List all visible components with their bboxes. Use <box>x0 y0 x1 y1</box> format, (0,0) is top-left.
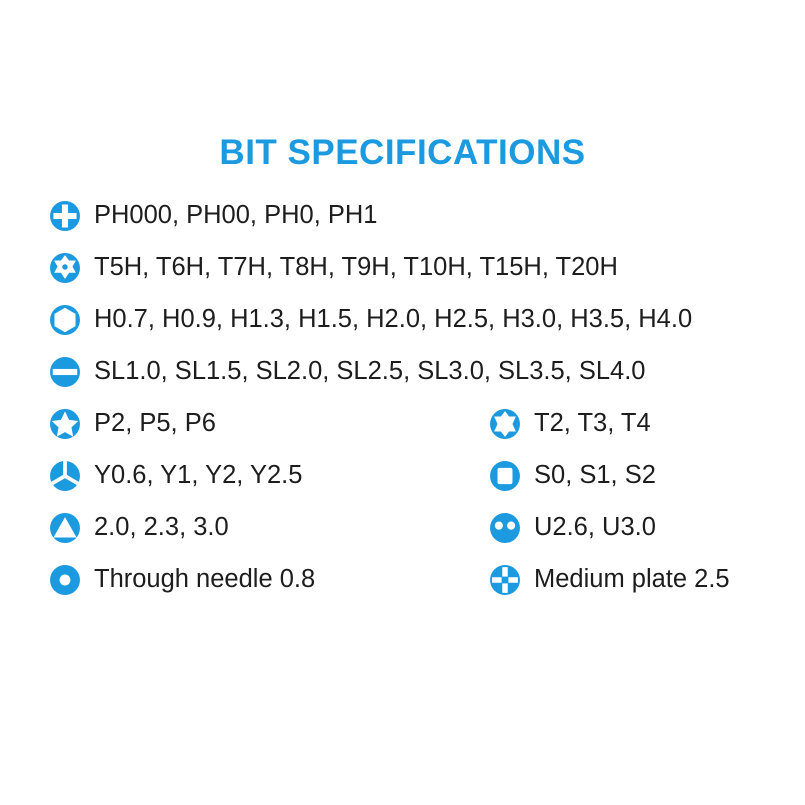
spec-row: T5H, T6H, T7H, T8H, T9H, T10H, T15H, T20… <box>48 242 768 294</box>
spec-row: P2, P5, P6 T2, T3, T4 <box>48 398 768 450</box>
spec-label: 2.0, 2.3, 3.0 <box>94 515 229 541</box>
spec-label: Medium plate 2.5 <box>534 567 730 593</box>
spec-label: SL1.0, SL1.5, SL2.0, SL2.5, SL3.0, SL3.5… <box>94 359 646 385</box>
spec-entry: Y0.6, Y1, Y2, Y2.5 <box>48 459 488 493</box>
spec-entry: SL1.0, SL1.5, SL2.0, SL2.5, SL3.0, SL3.5… <box>48 355 768 389</box>
spec-entry: PH000, PH00, PH0, PH1 <box>48 199 768 233</box>
spec-row: PH000, PH00, PH0, PH1 <box>48 190 768 242</box>
spec-entry: H0.7, H0.9, H1.3, H1.5, H2.0, H2.5, H3.0… <box>48 303 768 337</box>
u-spanner-two-dot-bit-icon <box>488 511 522 545</box>
spec-entry: Medium plate 2.5 <box>488 563 768 597</box>
slotted-flathead-bit-icon <box>48 355 82 389</box>
pozidriv-plate-cross-bit-icon <box>488 563 522 597</box>
spec-entry: U2.6, U3.0 <box>488 511 768 545</box>
spec-label: Through needle 0.8 <box>94 567 315 593</box>
spec-entry: T2, T3, T4 <box>488 407 768 441</box>
phillips-cross-bit-icon <box>48 199 82 233</box>
spec-label: U2.6, U3.0 <box>534 515 656 541</box>
square-bit-icon <box>488 459 522 493</box>
spec-label: T5H, T6H, T7H, T8H, T9H, T10H, T15H, T20… <box>94 255 618 281</box>
spec-entry: Through needle 0.8 <box>48 563 488 597</box>
tri-wing-y-bit-icon <box>48 459 82 493</box>
spec-row: Through needle 0.8 Medium plate 2.5 <box>48 554 768 606</box>
triangle-bit-icon <box>48 511 82 545</box>
spec-entry: P2, P5, P6 <box>48 407 488 441</box>
bit-specifications-card: BIT SPECIFICATIONS PH000, PH00, PH0, PH1 <box>0 0 805 805</box>
spec-entry: T5H, T6H, T7H, T8H, T9H, T10H, T15H, T20… <box>48 251 768 285</box>
spec-label: H0.7, H0.9, H1.3, H1.5, H2.0, H2.5, H3.0… <box>94 307 692 333</box>
page-title: BIT SPECIFICATIONS <box>0 133 805 173</box>
spec-entry: S0, S1, S2 <box>488 459 768 493</box>
spec-row: SL1.0, SL1.5, SL2.0, SL2.5, SL3.0, SL3.5… <box>48 346 768 398</box>
spec-label: S0, S1, S2 <box>534 463 656 489</box>
spec-label: P2, P5, P6 <box>94 411 216 437</box>
torx-star-bit-icon <box>488 407 522 441</box>
spec-row: H0.7, H0.9, H1.3, H1.5, H2.0, H2.5, H3.0… <box>48 294 768 346</box>
spec-label: PH000, PH00, PH0, PH1 <box>94 203 377 229</box>
through-needle-dot-bit-icon <box>48 563 82 597</box>
spec-entry: 2.0, 2.3, 3.0 <box>48 511 488 545</box>
spec-label: T2, T3, T4 <box>534 411 651 437</box>
spec-rows-list: PH000, PH00, PH0, PH1 T5H, T6H, T7H, T8H… <box>48 190 768 606</box>
spec-row: 2.0, 2.3, 3.0 U2.6, U3.0 <box>48 502 768 554</box>
spec-label: Y0.6, Y1, Y2, Y2.5 <box>94 463 302 489</box>
pentalobe-star-bit-icon <box>48 407 82 441</box>
spec-row: Y0.6, Y1, Y2, Y2.5 S0, S1, S2 <box>48 450 768 502</box>
hex-bit-icon <box>48 303 82 337</box>
torx-security-star-bit-icon <box>48 251 82 285</box>
